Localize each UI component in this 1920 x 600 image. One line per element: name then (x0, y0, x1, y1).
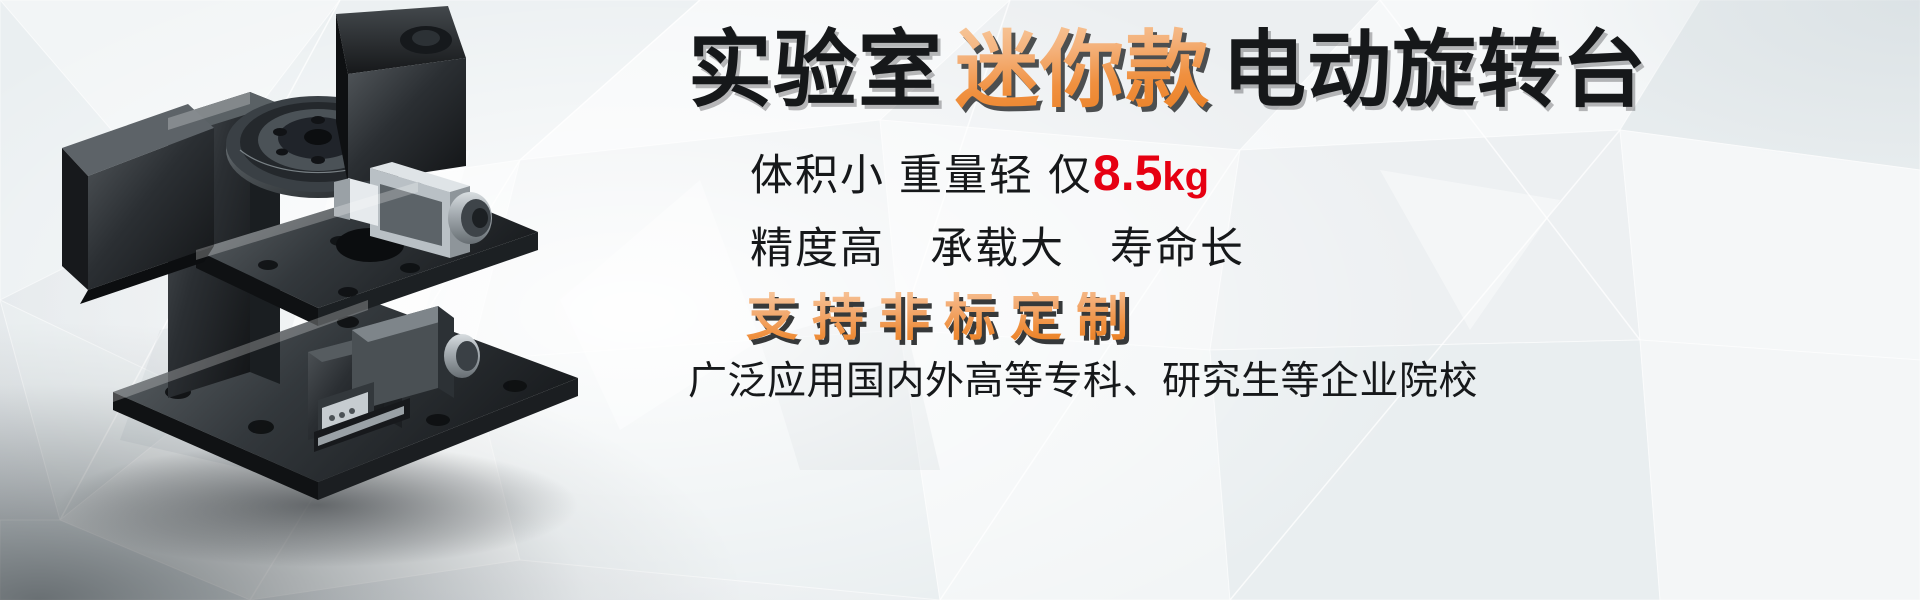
promo-banner: 实验室迷你款电动旋转台 体积小 重量轻 仅8.5kg 精度高 承载大 寿命长 支… (0, 0, 1920, 600)
feature-line-weight-text: 体积小 重量轻 仅 (750, 152, 1093, 200)
feature-line-weight: 体积小 重量轻 仅8.5kg (750, 148, 1209, 198)
headline-accent: 迷你款 (955, 23, 1210, 117)
weight-number: 8.5 (1093, 145, 1163, 201)
product-image (18, 0, 678, 600)
banner-copy: 实验室迷你款电动旋转台 体积小 重量轻 仅8.5kg 精度高 承载大 寿命长 支… (688, 0, 1898, 600)
application-description: 广泛应用国内外高等专科、研究生等企业院校 (688, 362, 1478, 401)
headline-before: 实验室 (688, 23, 943, 117)
feature-line-performance: 精度高 承载大 寿命长 (750, 228, 1245, 271)
weight-unit: kg (1162, 155, 1209, 199)
headline-after: 电动旋转台 (1222, 23, 1647, 117)
custom-order-slogan: 支持非标定制 (746, 292, 1142, 344)
headline: 实验室迷你款电动旋转台 (688, 28, 1647, 112)
weight-value-badge: 8.5kg (1093, 145, 1209, 201)
